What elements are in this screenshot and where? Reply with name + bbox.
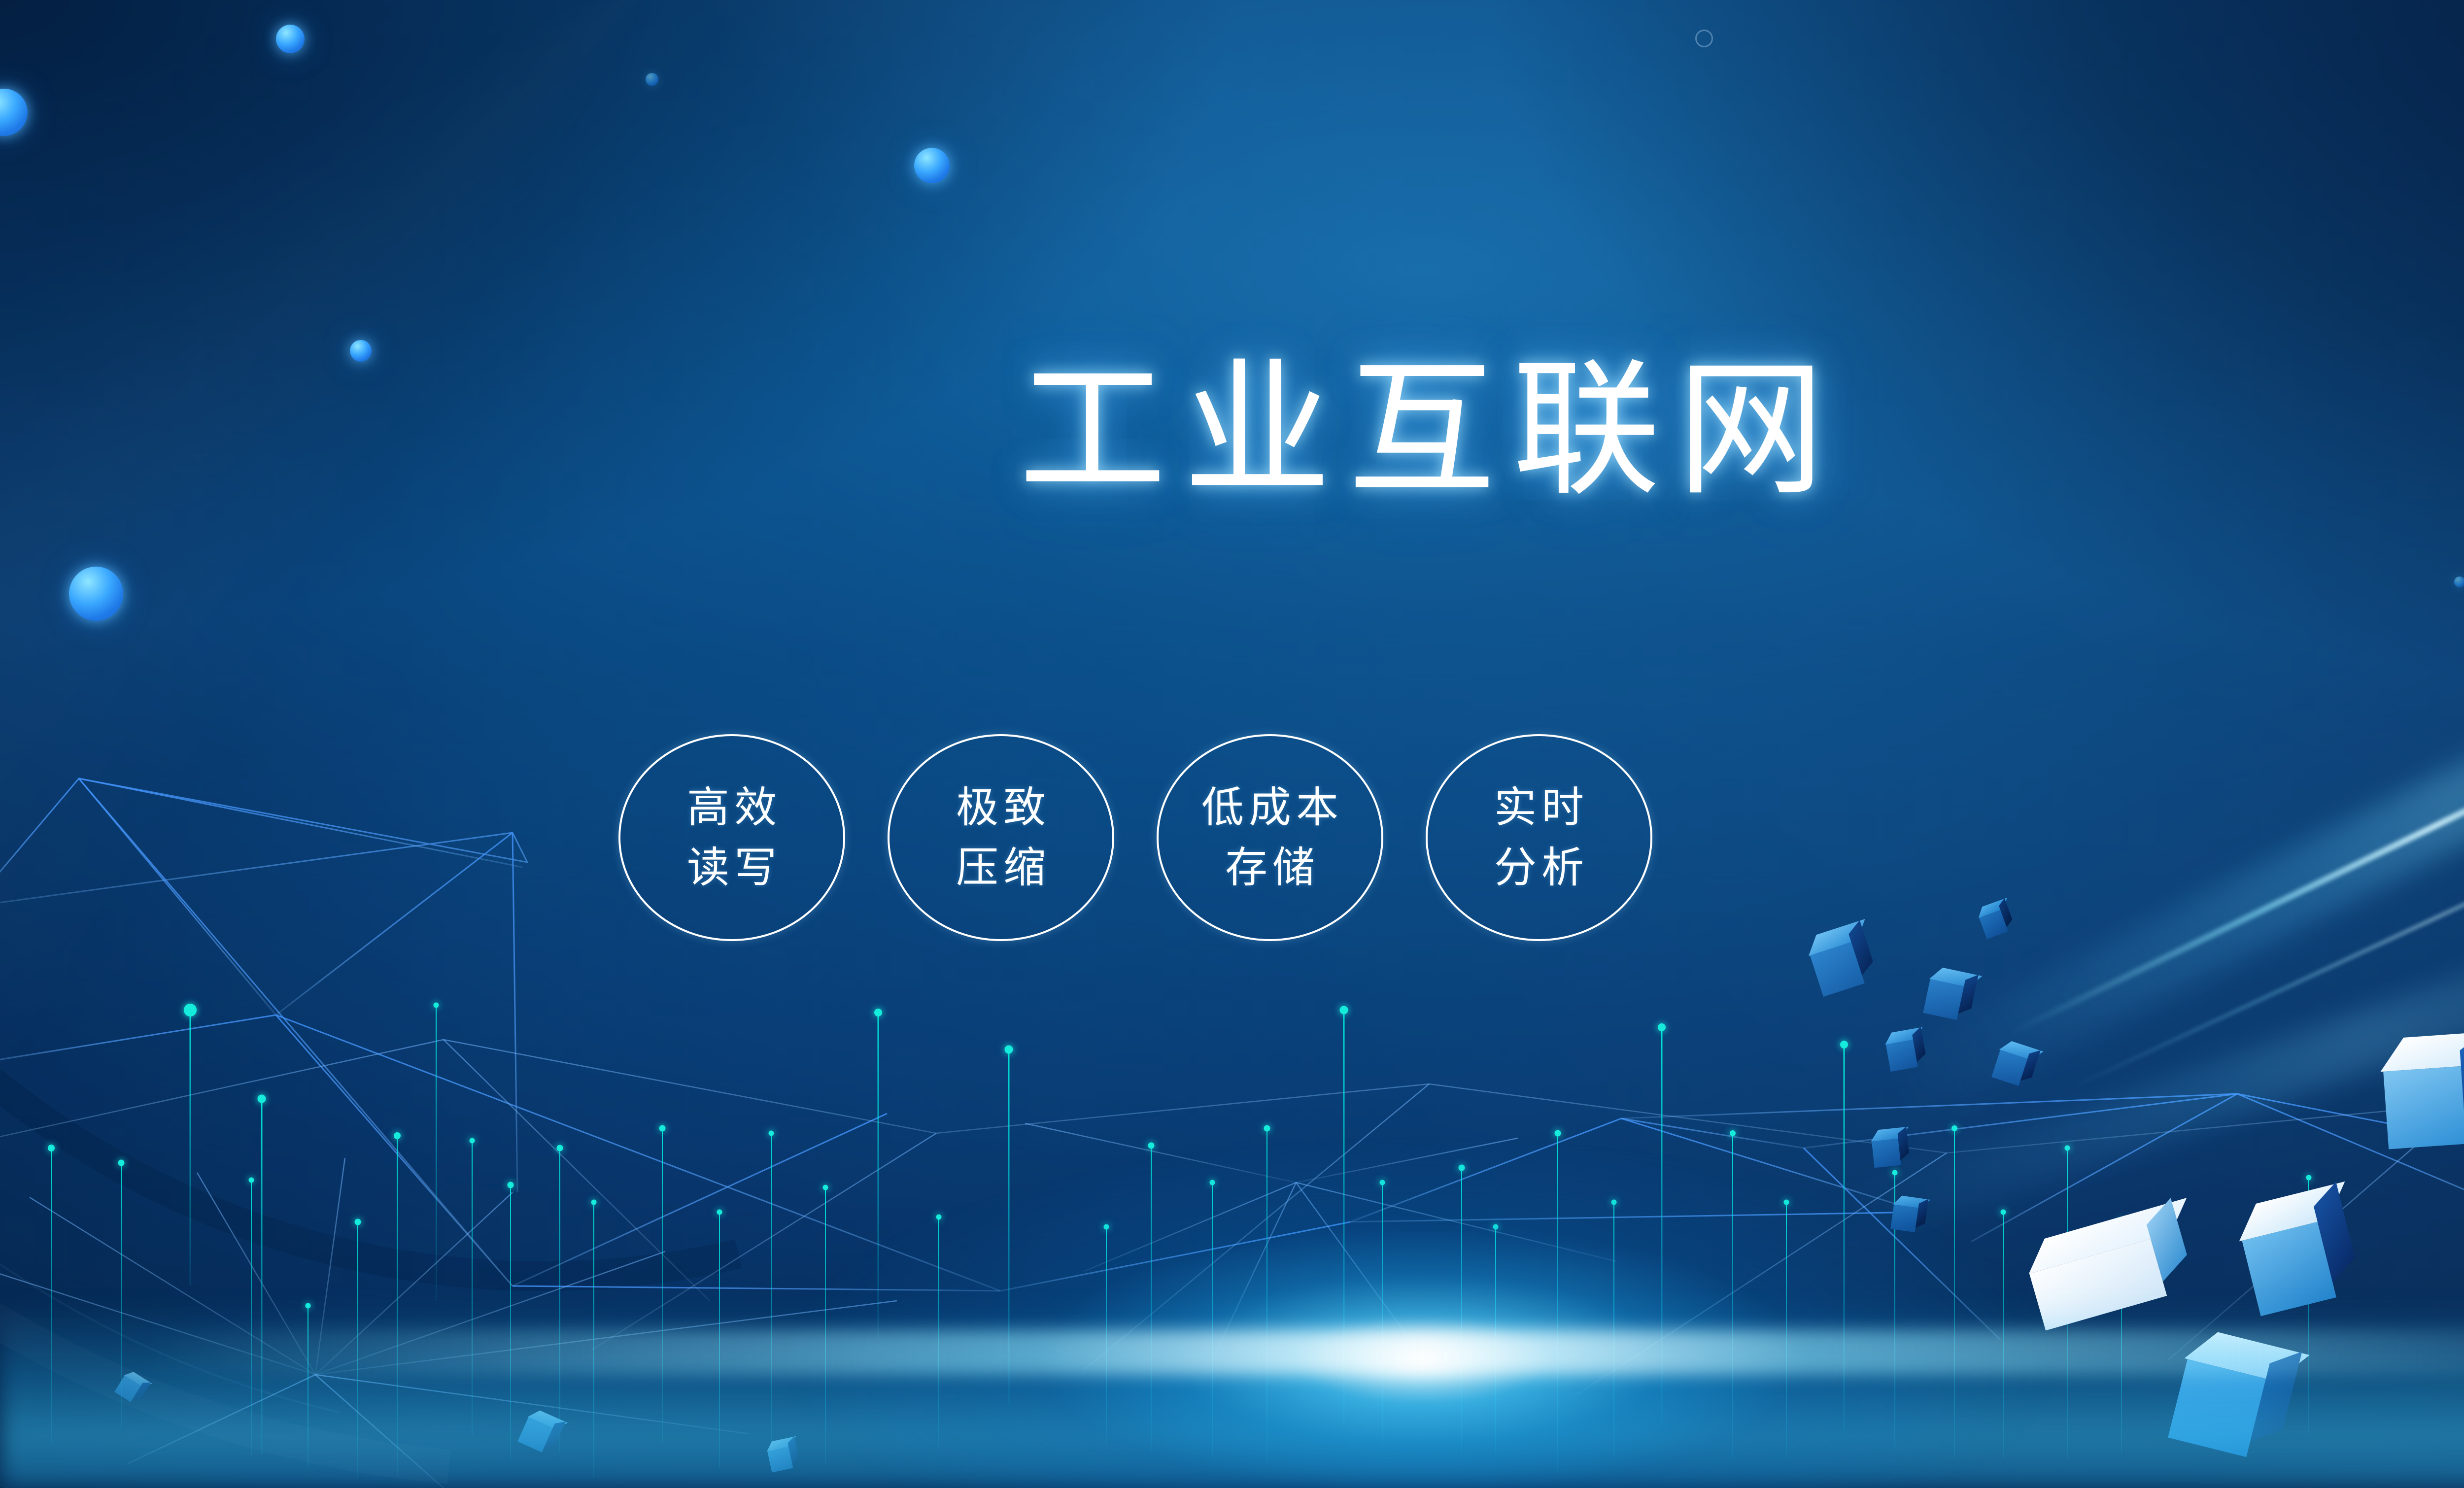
feature-line-2: 读写 [682,838,782,898]
feature-line-1: 实时 [1489,778,1589,838]
feature-line-1: 高效 [682,778,782,838]
bokeh-orb [914,148,950,183]
bottom-glow-ray [140,1330,2464,1375]
feature-line-1: 低成本 [1197,778,1343,838]
page-title: 工业互联网 [1002,345,1842,515]
bottom-glow-burst [781,1138,2062,1488]
slide-canvas: 工业互联网 高效 读写 极致 压缩 低成本 存储 实时 分析 [0,0,2464,1488]
data-pin [434,1005,439,1301]
bokeh-orb [276,25,305,53]
data-pin [186,1010,195,1286]
bokeh-orb [646,73,658,86]
cube-3d [1884,1026,1934,1077]
feature-line-1: 极致 [951,778,1051,838]
cube-3d [2381,1031,2464,1162]
hero-title-wrap: 工业互联网 [0,345,2464,515]
feature-circle-low-cost-storage[interactable]: 低成本 存储 [1157,734,1383,941]
feature-circle-group: 高效 读写 极致 压缩 低成本 存储 实时 分析 [618,734,1653,941]
feature-line-2: 分析 [1489,838,1589,898]
feature-circle-extreme-compression[interactable]: 极致 压缩 [888,734,1114,941]
feature-line-2: 压缩 [951,838,1051,898]
cube-3d [1922,966,1986,1030]
bokeh-orb [69,567,123,621]
feature-line-2: 存储 [1220,838,1320,898]
feature-circle-realtime-analysis[interactable]: 实时 分析 [1426,734,1652,941]
bokeh-ring [1695,30,1713,47]
bokeh-orb [2454,576,2464,587]
feature-circle-efficient-read-write[interactable]: 高效 读写 [618,734,845,941]
